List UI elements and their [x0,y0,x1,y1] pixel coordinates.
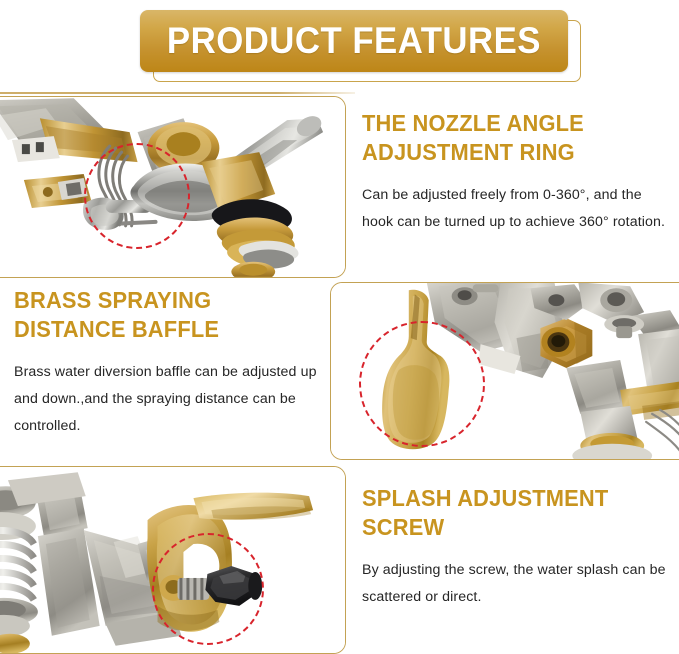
feature-title-nozzle-ring: THE NOZZLE ANGLE ADJUSTMENT RING [362,109,657,168]
feature-row-brass-spraying-distance-baffle: BRASS SPRAYING DISTANCE BAFFLE Brass wat… [0,282,679,460]
banner-gold-box: PRODUCT FEATURES [140,10,568,72]
feature-body-nozzle-ring: Can be adjusted freely from 0-360°, and … [362,182,672,237]
feature-body-splash-screw: By adjusting the screw, the water splash… [362,557,672,612]
product-features-infographic: PRODUCT FEATURES [0,0,679,654]
header-divider [0,92,355,94]
feature-body-brass-baffle: Brass water diversion baffle can be adju… [14,359,326,441]
feature-text-nozzle-angle-adjustment-ring: THE NOZZLE ANGLE ADJUSTMENT RING Can be … [362,96,672,236]
feature-text-splash-adjustment-screw: SPLASH ADJUSTMENT SCREW By adjusting the… [362,466,672,611]
feature-image-panel-nozzle-ring [0,96,346,278]
page-title: PRODUCT FEATURES [167,20,541,62]
feature-row-nozzle-angle-adjustment-ring: THE NOZZLE ANGLE ADJUSTMENT RING Can be … [0,96,679,278]
feature-title-splash-screw: SPLASH ADJUSTMENT SCREW [362,484,657,543]
feature-text-brass-spraying-distance-baffle: BRASS SPRAYING DISTANCE BAFFLE Brass wat… [14,282,326,441]
annotation-circle-splash-screw [152,533,264,645]
feature-image-panel-brass-baffle [330,282,679,460]
feature-image-panel-splash-screw [0,466,346,654]
feature-title-brass-baffle: BRASS SPRAYING DISTANCE BAFFLE [14,286,310,345]
annotation-circle-nozzle-ring [84,143,190,249]
feature-row-splash-adjustment-screw: SPLASH ADJUSTMENT SCREW By adjusting the… [0,466,679,654]
annotation-circle-brass-baffle [359,321,485,447]
header-banner: PRODUCT FEATURES [0,0,679,86]
